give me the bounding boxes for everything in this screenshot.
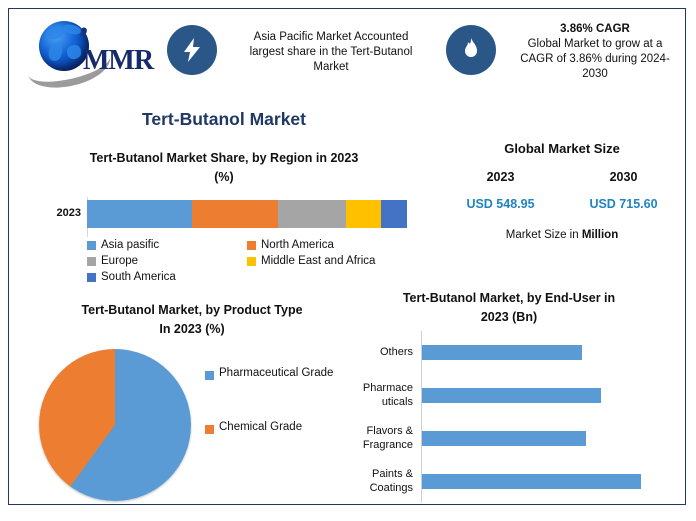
- pie-legend: Pharmaceutical Grade Chemical Grade: [205, 367, 355, 434]
- global-market-size-title: Global Market Size: [439, 141, 685, 156]
- end-user-row: Flavors &Fragrance: [339, 417, 679, 460]
- legend-swatch-icon: [247, 241, 256, 250]
- global-market-size-panel: Global Market Size 2023 2030 USD 548.95 …: [439, 141, 685, 241]
- market-size-unit-prefix: Market Size in: [506, 229, 582, 241]
- legend-item-south-america[interactable]: South America: [87, 271, 247, 283]
- end-user-chart-title-line2: 2023 (Bn): [339, 308, 679, 327]
- legend-label: Europe: [101, 255, 138, 267]
- end-user-category-label: Flavors &Fragrance: [339, 424, 413, 452]
- market-size-unit-bold: Million: [582, 229, 618, 241]
- infographic-frame: ’ MMR Asia Pacific Market Accounted larg…: [8, 8, 686, 505]
- flame-icon: [446, 25, 496, 75]
- region-segment-south-america: [381, 200, 407, 228]
- end-user-row: Paints &Coatings: [339, 460, 679, 503]
- product-type-pie-chart: [39, 349, 191, 501]
- end-user-category-label: Others: [339, 345, 413, 359]
- market-size-value-2023: USD 548.95: [439, 197, 562, 211]
- legend-item-north-america[interactable]: North America: [247, 239, 334, 251]
- end-user-bar: [422, 345, 582, 360]
- stat2-line2: CAGR of 3.86% during 2024-: [504, 52, 686, 67]
- end-user-category-label: Paints &Coatings: [339, 467, 413, 495]
- region-segment-asia-pasific: [87, 200, 192, 228]
- stat-asia-pacific: Asia Pacific Market Accounted largest sh…: [167, 17, 437, 85]
- stat-cagr: 3.86% CAGR Global Market to grow at a CA…: [446, 17, 686, 85]
- legend-label: Asia pasific: [101, 239, 159, 251]
- legend-swatch-icon: [87, 257, 96, 266]
- market-size-value-2030: USD 715.60: [562, 197, 685, 211]
- legend-label: North America: [261, 239, 334, 251]
- legend-swatch-icon: [247, 257, 256, 266]
- region-chart-title-line1: Tert-Butanol Market Share, by Region in …: [59, 149, 389, 168]
- region-category-label: 2023: [29, 207, 81, 219]
- lightning-bolt-icon: [167, 25, 217, 75]
- end-user-chart-title: Tert-Butanol Market, by End-User in 2023…: [339, 289, 679, 327]
- pie-chart-title: Tert-Butanol Market, by Product Type In …: [27, 301, 357, 339]
- stat2-line3: 2030: [504, 67, 686, 82]
- legend-swatch-icon: [205, 371, 214, 380]
- region-chart-title: Tert-Butanol Market Share, by Region in …: [59, 149, 389, 187]
- region-legend: Asia pasific North America Europe Middle…: [87, 237, 407, 285]
- legend-item-middle-east-and-africa[interactable]: Middle East and Africa: [247, 255, 375, 267]
- market-size-year-2030: 2030: [562, 170, 685, 184]
- legend-swatch-icon: [87, 241, 96, 250]
- header: ’ MMR Asia Pacific Market Accounted larg…: [9, 9, 685, 91]
- region-stacked-bar-chart: 2023: [29, 197, 429, 237]
- end-user-bar: [422, 388, 601, 403]
- legend-swatch-icon: [87, 273, 96, 282]
- end-user-bar-chart: OthersPharmaceuticalsFlavors &FragranceP…: [339, 331, 679, 506]
- region-segment-north-america: [192, 200, 278, 228]
- pie-chart-title-line1: Tert-Butanol Market, by Product Type: [27, 301, 357, 320]
- region-segment-europe: [278, 200, 346, 228]
- pie-chart-title-line2: In 2023 (%): [27, 320, 357, 339]
- end-user-row: Others: [339, 331, 679, 374]
- legend-item-chemical-grade[interactable]: Chemical Grade: [205, 421, 355, 434]
- stat2-heading: 3.86% CAGR: [504, 22, 686, 37]
- stat1-line1: Asia Pacific Market Accounted: [225, 30, 437, 45]
- end-user-category-label: Pharmaceuticals: [339, 381, 413, 409]
- market-size-year-2023: 2023: [439, 170, 562, 184]
- legend-label: Chemical Grade: [219, 421, 302, 433]
- logo-text: MMR: [83, 45, 153, 77]
- end-user-row: Pharmaceuticals: [339, 374, 679, 417]
- end-user-bar: [422, 474, 641, 489]
- legend-label: Middle East and Africa: [261, 255, 375, 267]
- region-chart-title-line2: (%): [59, 168, 389, 187]
- legend-item-europe[interactable]: Europe: [87, 255, 247, 267]
- stat1-line3: Market: [225, 60, 437, 75]
- region-bar-track: [87, 200, 407, 228]
- end-user-chart-title-line1: Tert-Butanol Market, by End-User in: [339, 289, 679, 308]
- stat1-line2: largest share in the Tert-Butanol: [225, 45, 437, 60]
- market-size-unit-note: Market Size in Million: [439, 229, 685, 241]
- legend-item-asia-pasific[interactable]: Asia pasific: [87, 239, 247, 251]
- legend-label: South America: [101, 271, 176, 283]
- end-user-bar: [422, 431, 586, 446]
- stat2-line1: Global Market to grow at a: [504, 37, 686, 52]
- legend-swatch-icon: [205, 425, 214, 434]
- legend-label: Pharmaceutical Grade: [219, 367, 333, 379]
- legend-item-pharmaceutical-grade[interactable]: Pharmaceutical Grade: [205, 367, 355, 380]
- region-segment-middle-east-and-africa: [346, 200, 381, 228]
- page-title: Tert-Butanol Market: [9, 109, 439, 130]
- mmr-logo: ’ MMR: [23, 15, 153, 85]
